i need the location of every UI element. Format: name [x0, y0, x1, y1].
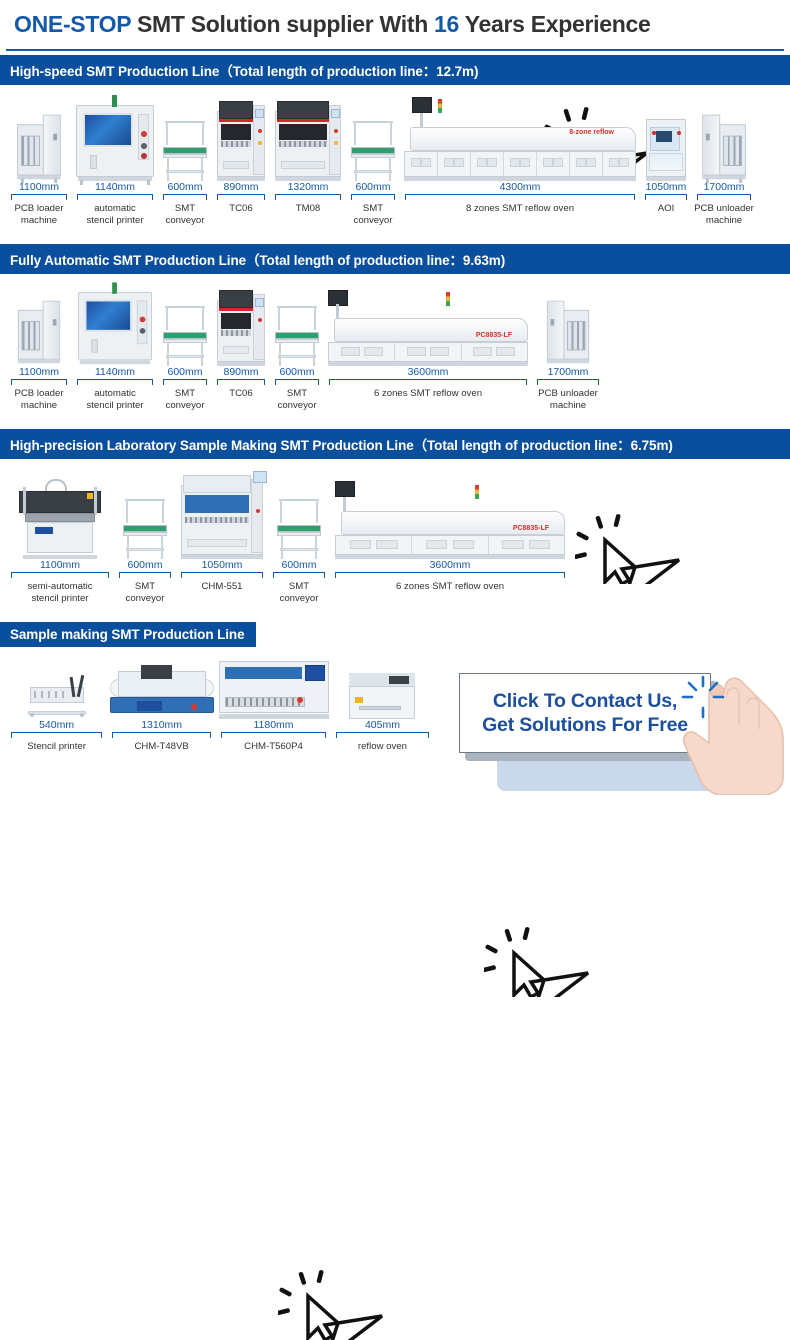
smt-conveyor-icon — [114, 471, 176, 559]
dimension-cell: 1310mm CHM-T48VB — [107, 719, 216, 753]
dimension-bracket — [335, 572, 565, 578]
section-fully-automatic: Fully Automatic SMT Production Line（Tota… — [0, 244, 790, 411]
machine-caption: semi-automatic stencil printer — [27, 581, 92, 604]
smt-mounter-tm08-icon — [270, 97, 346, 181]
machine-cell: PC8835-LF — [330, 471, 570, 559]
smt-conveyor-icon — [270, 286, 324, 366]
dimension-cell: 1140mm automatic stencil printer — [72, 181, 158, 226]
pointing-hand-icon — [673, 665, 790, 795]
cta-line-2: Get Solutions For Free — [482, 713, 688, 737]
dimension-row-high-speed: 1100mm PCB loader machine 1140mm automat… — [0, 181, 790, 226]
machine-caption: automatic stencil printer — [86, 203, 143, 226]
dimension-value: 1700mm — [695, 181, 753, 194]
desktop-reflow-oven-icon — [331, 655, 434, 719]
dimension-bracket — [11, 732, 102, 738]
dimension-bracket — [119, 572, 171, 578]
machine-cell — [107, 655, 216, 719]
dimension-value: 1140mm — [75, 181, 155, 194]
dimension-value: 1100mm — [9, 366, 69, 379]
aoi-machine-icon — [640, 97, 692, 181]
smt-mounter-chm-551-icon — [176, 471, 268, 559]
reflow-oven-6-zone-icon: PC8835-LF — [330, 471, 570, 559]
dimension-value: 3600mm — [333, 559, 567, 572]
machine-cell — [114, 471, 176, 559]
machine-row-high-speed: 8-zone reflow — [0, 85, 790, 181]
machine-cell — [176, 471, 268, 559]
dimension-bracket — [329, 379, 527, 385]
click-cursor-icon-3 — [484, 927, 594, 997]
bench-stencil-printer-icon — [6, 655, 107, 719]
dimension-bracket — [275, 194, 341, 200]
machine-caption: Stencil printer — [27, 741, 86, 753]
dimension-bracket — [11, 194, 67, 200]
machine-caption: SMT conveyor — [126, 581, 165, 604]
dimension-cell: 1180mm CHM-T560P4 — [216, 719, 331, 753]
pcb-loader-machine-icon — [6, 286, 72, 366]
pcb-unloader-machine-icon — [692, 97, 756, 181]
dimension-value: 1100mm — [9, 559, 111, 572]
dimension-value: 3600mm — [327, 366, 529, 379]
dimension-bracket — [697, 194, 751, 200]
cta-line-1: Click To Contact Us, — [493, 689, 677, 713]
dimension-bracket — [405, 194, 635, 200]
dimension-value: 1100mm — [9, 181, 69, 194]
dimension-value: 4300mm — [403, 181, 637, 194]
machine-cell — [158, 286, 212, 366]
dimension-value: 1310mm — [110, 719, 213, 732]
click-cursor-icon-4 — [278, 1270, 388, 1340]
dimension-cell: 890mm TC06 — [212, 181, 270, 215]
machine-caption: TC06 — [229, 388, 252, 400]
dimension-cell: 600mm SMT conveyor — [270, 366, 324, 411]
dimension-value: 600mm — [349, 181, 397, 194]
dimension-cell: 600mm SMT conveyor — [268, 559, 330, 604]
page-title-text-2: Years Experience — [459, 11, 650, 37]
machine-caption: SMT conveyor — [354, 203, 393, 226]
section-high-precision-lab: High-precision Laboratory Sample Making … — [0, 429, 790, 604]
dimension-bracket — [77, 379, 153, 385]
dimension-bracket — [11, 572, 109, 578]
smt-conveyor-icon — [158, 286, 212, 366]
page-title-highlight-1: ONE-STOP — [14, 11, 131, 37]
machine-caption: automatic stencil printer — [86, 388, 143, 411]
dimension-bracket — [163, 379, 207, 385]
dimension-cell: 1140mm automatic stencil printer — [72, 366, 158, 411]
machine-row-sample-making — [0, 647, 440, 719]
dimension-value: 540mm — [9, 719, 104, 732]
dimension-bracket — [221, 732, 326, 738]
page-title: ONE-STOP SMT Solution supplier With 16 Y… — [0, 0, 790, 45]
dimension-cell: 405mm reflow oven — [331, 719, 434, 753]
dimension-bracket — [645, 194, 687, 200]
section-header-sample-making: Sample making SMT Production Line — [0, 622, 256, 647]
dimension-cell: 1700mm PCB unloader machine — [692, 181, 756, 226]
dimension-cell: 4300mm 8 zones SMT reflow oven — [400, 181, 640, 215]
dimension-row-sample-making: 540mm Stencil printer 1310mm CHM-T48VB 1… — [0, 719, 440, 753]
automatic-stencil-printer-icon — [72, 97, 158, 181]
machine-cell — [212, 286, 270, 366]
smt-conveyor-icon — [346, 97, 400, 181]
dimension-bracket — [537, 379, 599, 385]
dimension-value: 1180mm — [219, 719, 328, 732]
machine-caption: reflow oven — [358, 741, 407, 753]
pcb-unloader-machine-icon — [532, 286, 604, 366]
machine-cell — [6, 471, 114, 559]
dimension-value: 890mm — [215, 181, 267, 194]
dimension-bracket — [11, 379, 67, 385]
dimension-value: 600mm — [273, 366, 321, 379]
smt-mounter-tc06-icon — [212, 97, 270, 181]
machine-caption: TM08 — [296, 203, 321, 215]
dimension-row-high-precision-lab: 1100mm semi-automatic stencil printer 60… — [0, 559, 790, 604]
dimension-value: 405mm — [334, 719, 431, 732]
machine-cell — [72, 286, 158, 366]
smt-mounter-tc06-icon — [212, 286, 270, 366]
section-high-speed: High-speed SMT Production Line（Total len… — [0, 55, 790, 226]
dimension-cell: 1050mm CHM-551 — [176, 559, 268, 593]
dimension-bracket — [77, 194, 153, 200]
smt-conveyor-icon — [158, 97, 212, 181]
dimension-value: 890mm — [215, 366, 267, 379]
machine-cell — [346, 97, 400, 181]
dimension-bracket — [273, 572, 325, 578]
dimension-cell: 600mm SMT conveyor — [158, 366, 212, 411]
automatic-stencil-printer-icon — [72, 286, 158, 366]
machine-caption: AOI — [658, 203, 675, 215]
machine-row-high-precision-lab: PC8835-LF — [0, 459, 790, 559]
dimension-cell: 890mm TC06 — [212, 366, 270, 400]
page-title-text-1: SMT Solution supplier With — [131, 11, 434, 37]
machine-row-fully-automatic: PC8835-LF — [0, 274, 790, 366]
machine-cell — [532, 286, 604, 366]
machine-cell — [270, 286, 324, 366]
contact-cta: Click To Contact Us, Get Solutions For F… — [459, 673, 789, 803]
dimension-bracket — [163, 194, 207, 200]
dimension-cell: 1320mm TM08 — [270, 181, 346, 215]
dimension-value: 1700mm — [535, 366, 601, 379]
dimension-bracket — [275, 379, 319, 385]
machine-cell — [6, 286, 72, 366]
title-divider — [6, 49, 784, 51]
dimension-bracket — [112, 732, 211, 738]
machine-caption: CHM-T48VB — [134, 741, 188, 753]
section-header-fully-automatic: Fully Automatic SMT Production Line（Tota… — [0, 244, 790, 274]
machine-cell — [158, 97, 212, 181]
dimension-cell: 3600mm 6 zones SMT reflow oven — [330, 559, 570, 593]
dimension-value: 600mm — [161, 366, 209, 379]
machine-caption: PCB unloader machine — [538, 388, 598, 411]
machine-cell — [6, 97, 72, 181]
machine-cell — [216, 655, 331, 719]
desktop-mounter-chm-t560p4-icon — [216, 655, 331, 719]
machine-cell — [72, 97, 158, 181]
dimension-cell: 1100mm PCB loader machine — [6, 366, 72, 411]
dimension-value: 600mm — [271, 559, 327, 572]
smt-conveyor-icon — [268, 471, 330, 559]
reflow-oven-8-zone-icon: 8-zone reflow — [400, 97, 640, 181]
dimension-value: 1140mm — [75, 366, 155, 379]
dimension-cell: 600mm SMT conveyor — [158, 181, 212, 226]
dimension-bracket — [351, 194, 395, 200]
machine-caption: SMT conveyor — [280, 581, 319, 604]
machine-cell — [268, 471, 330, 559]
machine-cell — [6, 655, 107, 719]
oven-marking: PC8835-LF — [513, 525, 549, 532]
machine-caption: SMT conveyor — [166, 203, 205, 226]
machine-cell: PC8835-LF — [324, 286, 532, 366]
reflow-oven-6-zone-icon: PC8835-LF — [324, 286, 532, 366]
dimension-value: 1050mm — [643, 181, 689, 194]
dimension-cell: 1100mm PCB loader machine — [6, 181, 72, 226]
section-header-high-speed: High-speed SMT Production Line（Total len… — [0, 55, 790, 85]
machine-caption: PCB loader machine — [14, 203, 63, 226]
dimension-bracket — [181, 572, 263, 578]
dimension-row-fully-automatic: 1100mm PCB loader machine 1140mm automat… — [0, 366, 790, 411]
machine-caption: CHM-T560P4 — [244, 741, 303, 753]
dimension-cell: 540mm Stencil printer — [6, 719, 107, 753]
dimension-bracket — [217, 379, 265, 385]
machine-cell — [692, 97, 756, 181]
machine-caption: 6 zones SMT reflow oven — [396, 581, 504, 593]
machine-cell — [270, 97, 346, 181]
machine-cell — [212, 97, 270, 181]
machine-cell — [640, 97, 692, 181]
dimension-cell: 600mm SMT conveyor — [114, 559, 176, 604]
machine-cell — [331, 655, 434, 719]
pcb-loader-machine-icon — [6, 97, 72, 181]
dimension-cell: 3600mm 6 zones SMT reflow oven — [324, 366, 532, 400]
desktop-mounter-chm-t48vb-icon — [107, 655, 216, 719]
dimension-value: 600mm — [117, 559, 173, 572]
dimension-cell: 1050mm AOI — [640, 181, 692, 215]
machine-caption: 6 zones SMT reflow oven — [374, 388, 482, 400]
machine-caption: SMT conveyor — [166, 388, 205, 411]
section-header-high-precision-lab: High-precision Laboratory Sample Making … — [0, 429, 790, 459]
machine-caption: 8 zones SMT reflow oven — [466, 203, 574, 215]
machine-caption: PCB unloader machine — [694, 203, 754, 226]
dimension-cell: 1700mm PCB unloader machine — [532, 366, 604, 411]
dimension-bracket — [336, 732, 429, 738]
dimension-value: 1320mm — [273, 181, 343, 194]
dimension-cell: 600mm SMT conveyor — [346, 181, 400, 226]
semi-automatic-stencil-printer-icon — [6, 471, 114, 559]
dimension-bracket — [217, 194, 265, 200]
machine-caption: PCB loader machine — [14, 388, 63, 411]
oven-marking: PC8835-LF — [476, 332, 512, 339]
machine-caption: TC06 — [229, 203, 252, 215]
machine-cell: 8-zone reflow — [400, 97, 640, 181]
machine-caption: SMT conveyor — [278, 388, 317, 411]
dimension-value: 600mm — [161, 181, 209, 194]
machine-caption: CHM-551 — [201, 581, 242, 593]
dimension-cell: 1100mm semi-automatic stencil printer — [6, 559, 114, 604]
page-title-highlight-2: 16 — [434, 11, 459, 37]
dimension-value: 1050mm — [179, 559, 265, 572]
